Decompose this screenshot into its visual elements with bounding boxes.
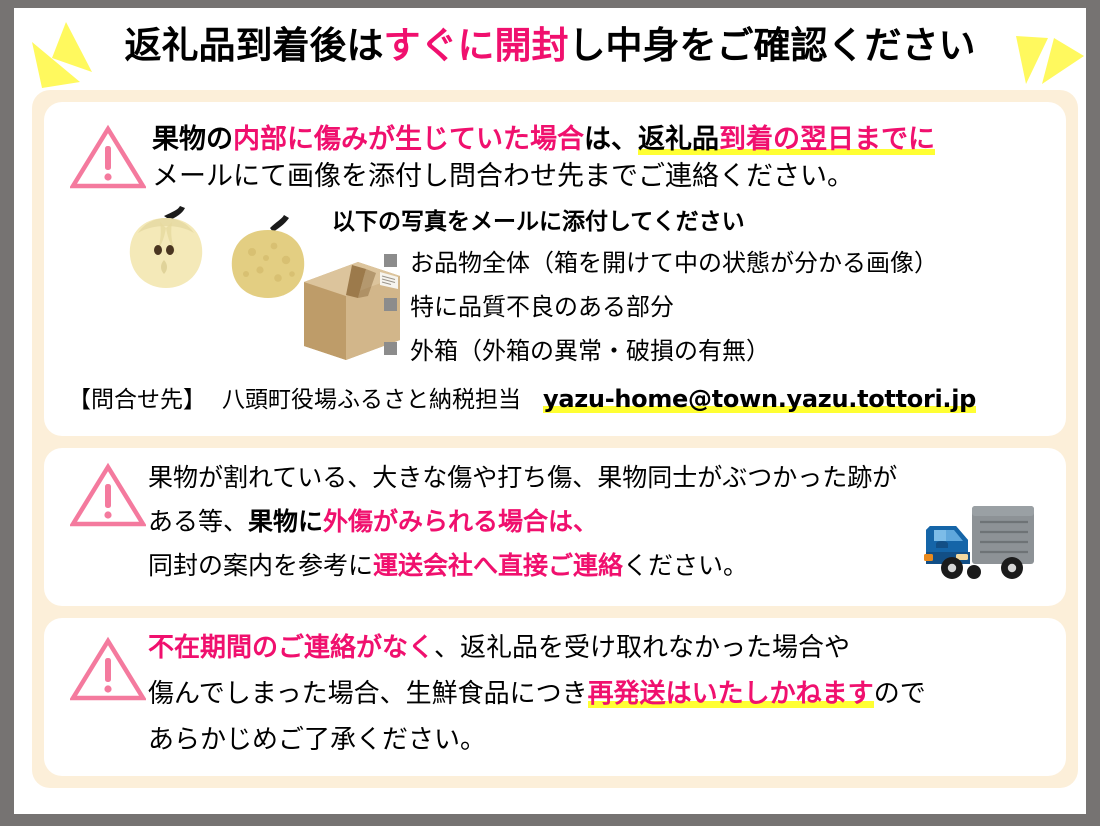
header: 返礼品到着後はすぐに開封し中身をご確認ください [14, 8, 1086, 88]
contact-organization: 八頭町役場ふるさと納税担当 [222, 386, 521, 412]
card2-line2-seg-a: ある等、 [148, 508, 248, 536]
title-segment-black-1: 返礼品到着後は [125, 25, 384, 66]
notice-card-inspection: 果物の内部に傷みが生じていた場合は、返礼品到着の翌日までに メールにて画像を添付… [44, 102, 1066, 436]
card2-line1: 果物が割れている、大きな傷や打ち傷、果物同士がぶつかった跡が [148, 456, 897, 500]
warning-triangle-icon [70, 636, 146, 702]
card1-line2: メールにて画像を添付し問合わせ先までご連絡ください。 [152, 157, 854, 195]
card1-line1: 果物の内部に傷みが生じていた場合は、返礼品到着の翌日までに [152, 120, 935, 158]
page-sheet: 返礼品到着後はすぐに開封し中身をご確認ください 果 [14, 8, 1086, 814]
warning-triangle-icon [70, 124, 146, 190]
card2-line2-seg-c: 外傷がみられる場合は、 [323, 508, 598, 536]
list-item: 外箱（外箱の異常・破損の有無） [384, 326, 938, 370]
card2-line3-seg-c: ください。 [623, 552, 748, 580]
card1-line1-seg-d: 返礼品 [638, 124, 719, 155]
card3-line1: 不在期間のご連絡がなく、返礼品を受け取れなかった場合や [148, 624, 926, 670]
bullet-square-icon [384, 298, 397, 311]
sparkle-right-icon [1010, 22, 1090, 88]
card2-line2: ある等、果物に外傷がみられる場合は、 [148, 500, 897, 544]
list-item-label: お品物全体（箱を開けて中の状態が分かる画像） [410, 243, 938, 278]
card3-line2: 傷んでしまった場合、生鮮食品につき再発送はいたしかねますので [148, 670, 926, 716]
contact-line: 【問合せ先】八頭町役場ふるさと納税担当yazu-home@town.yazu.t… [68, 380, 976, 414]
card1-line1-seg-a: 果物の [152, 124, 233, 154]
pear-halved-icon [120, 202, 212, 299]
list-item: 特に品質不良のある部分 [384, 282, 938, 326]
list-item-label: 外箱（外箱の異常・破損の有無） [410, 331, 770, 366]
notice-card-damage: 果物が割れている、大きな傷や打ち傷、果物同士がぶつかった跡が ある等、果物に外傷… [44, 448, 1066, 606]
title-segment-black-2: し中身をご確認ください [569, 25, 976, 66]
card3-line2-seg-a: 傷んでしまった場合、生鮮食品につき [148, 678, 588, 708]
card3-line2-seg-c: ので [874, 678, 926, 708]
card2-text: 果物が割れている、大きな傷や打ち傷、果物同士がぶつかった跡が ある等、果物に外傷… [148, 456, 897, 588]
page-title: 返礼品到着後はすぐに開封し中身をご確認ください [14, 18, 1086, 74]
card2-line2-seg-b: 果物に [248, 508, 323, 536]
card1-line1-seg-e: 到着の翌日までに [719, 124, 935, 155]
card3-line1-seg-a: 不在期間のご連絡がなく [148, 632, 434, 662]
bullet-square-icon [384, 342, 397, 355]
card1-line1-seg-b: 内部に傷みが生じていた場合 [233, 124, 584, 154]
card1-line1-seg-c: は、 [584, 124, 638, 154]
delivery-truck-icon [916, 496, 1044, 593]
card2-line3: 同封の案内を参考に運送会社へ直接ご連絡ください。 [148, 544, 897, 588]
notice-page: 返礼品到着後はすぐに開封し中身をご確認ください 果 [0, 0, 1100, 826]
notice-card-absence: 不在期間のご連絡がなく、返礼品を受け取れなかった場合や 傷んでしまった場合、生鮮… [44, 618, 1066, 776]
bullet-square-icon [384, 254, 397, 267]
card2-line3-seg-a: 同封の案内を参考に [148, 552, 373, 580]
card3-line1-seg-b: 、返礼品を受け取れなかった場合や [434, 632, 850, 662]
list-item-label: 特に品質不良のある部分 [410, 287, 674, 322]
card1-bullet-list: お品物全体（箱を開けて中の状態が分かる画像） 特に品質不良のある部分 外箱（外箱… [384, 238, 938, 370]
title-segment-pink: すぐに開封 [384, 25, 569, 66]
content-frame: 果物の内部に傷みが生じていた場合は、返礼品到着の翌日までに メールにて画像を添付… [32, 90, 1078, 788]
contact-email[interactable]: yazu-home@town.yazu.tottori.jp [543, 385, 976, 413]
warning-triangle-icon [70, 462, 146, 528]
card3-line3: あらかじめご了承ください。 [148, 716, 926, 762]
contact-label: 【問合せ先】 [68, 386, 206, 412]
card3-line2-seg-b: 再発送はいたしかねます [588, 678, 874, 708]
card2-line3-seg-b: 運送会社へ直接ご連絡 [373, 552, 623, 580]
card1-subheading: 以下の写真をメールに添付してください [332, 202, 745, 236]
list-item: お品物全体（箱を開けて中の状態が分かる画像） [384, 238, 938, 282]
card3-text: 不在期間のご連絡がなく、返礼品を受け取れなかった場合や 傷んでしまった場合、生鮮… [148, 624, 926, 762]
